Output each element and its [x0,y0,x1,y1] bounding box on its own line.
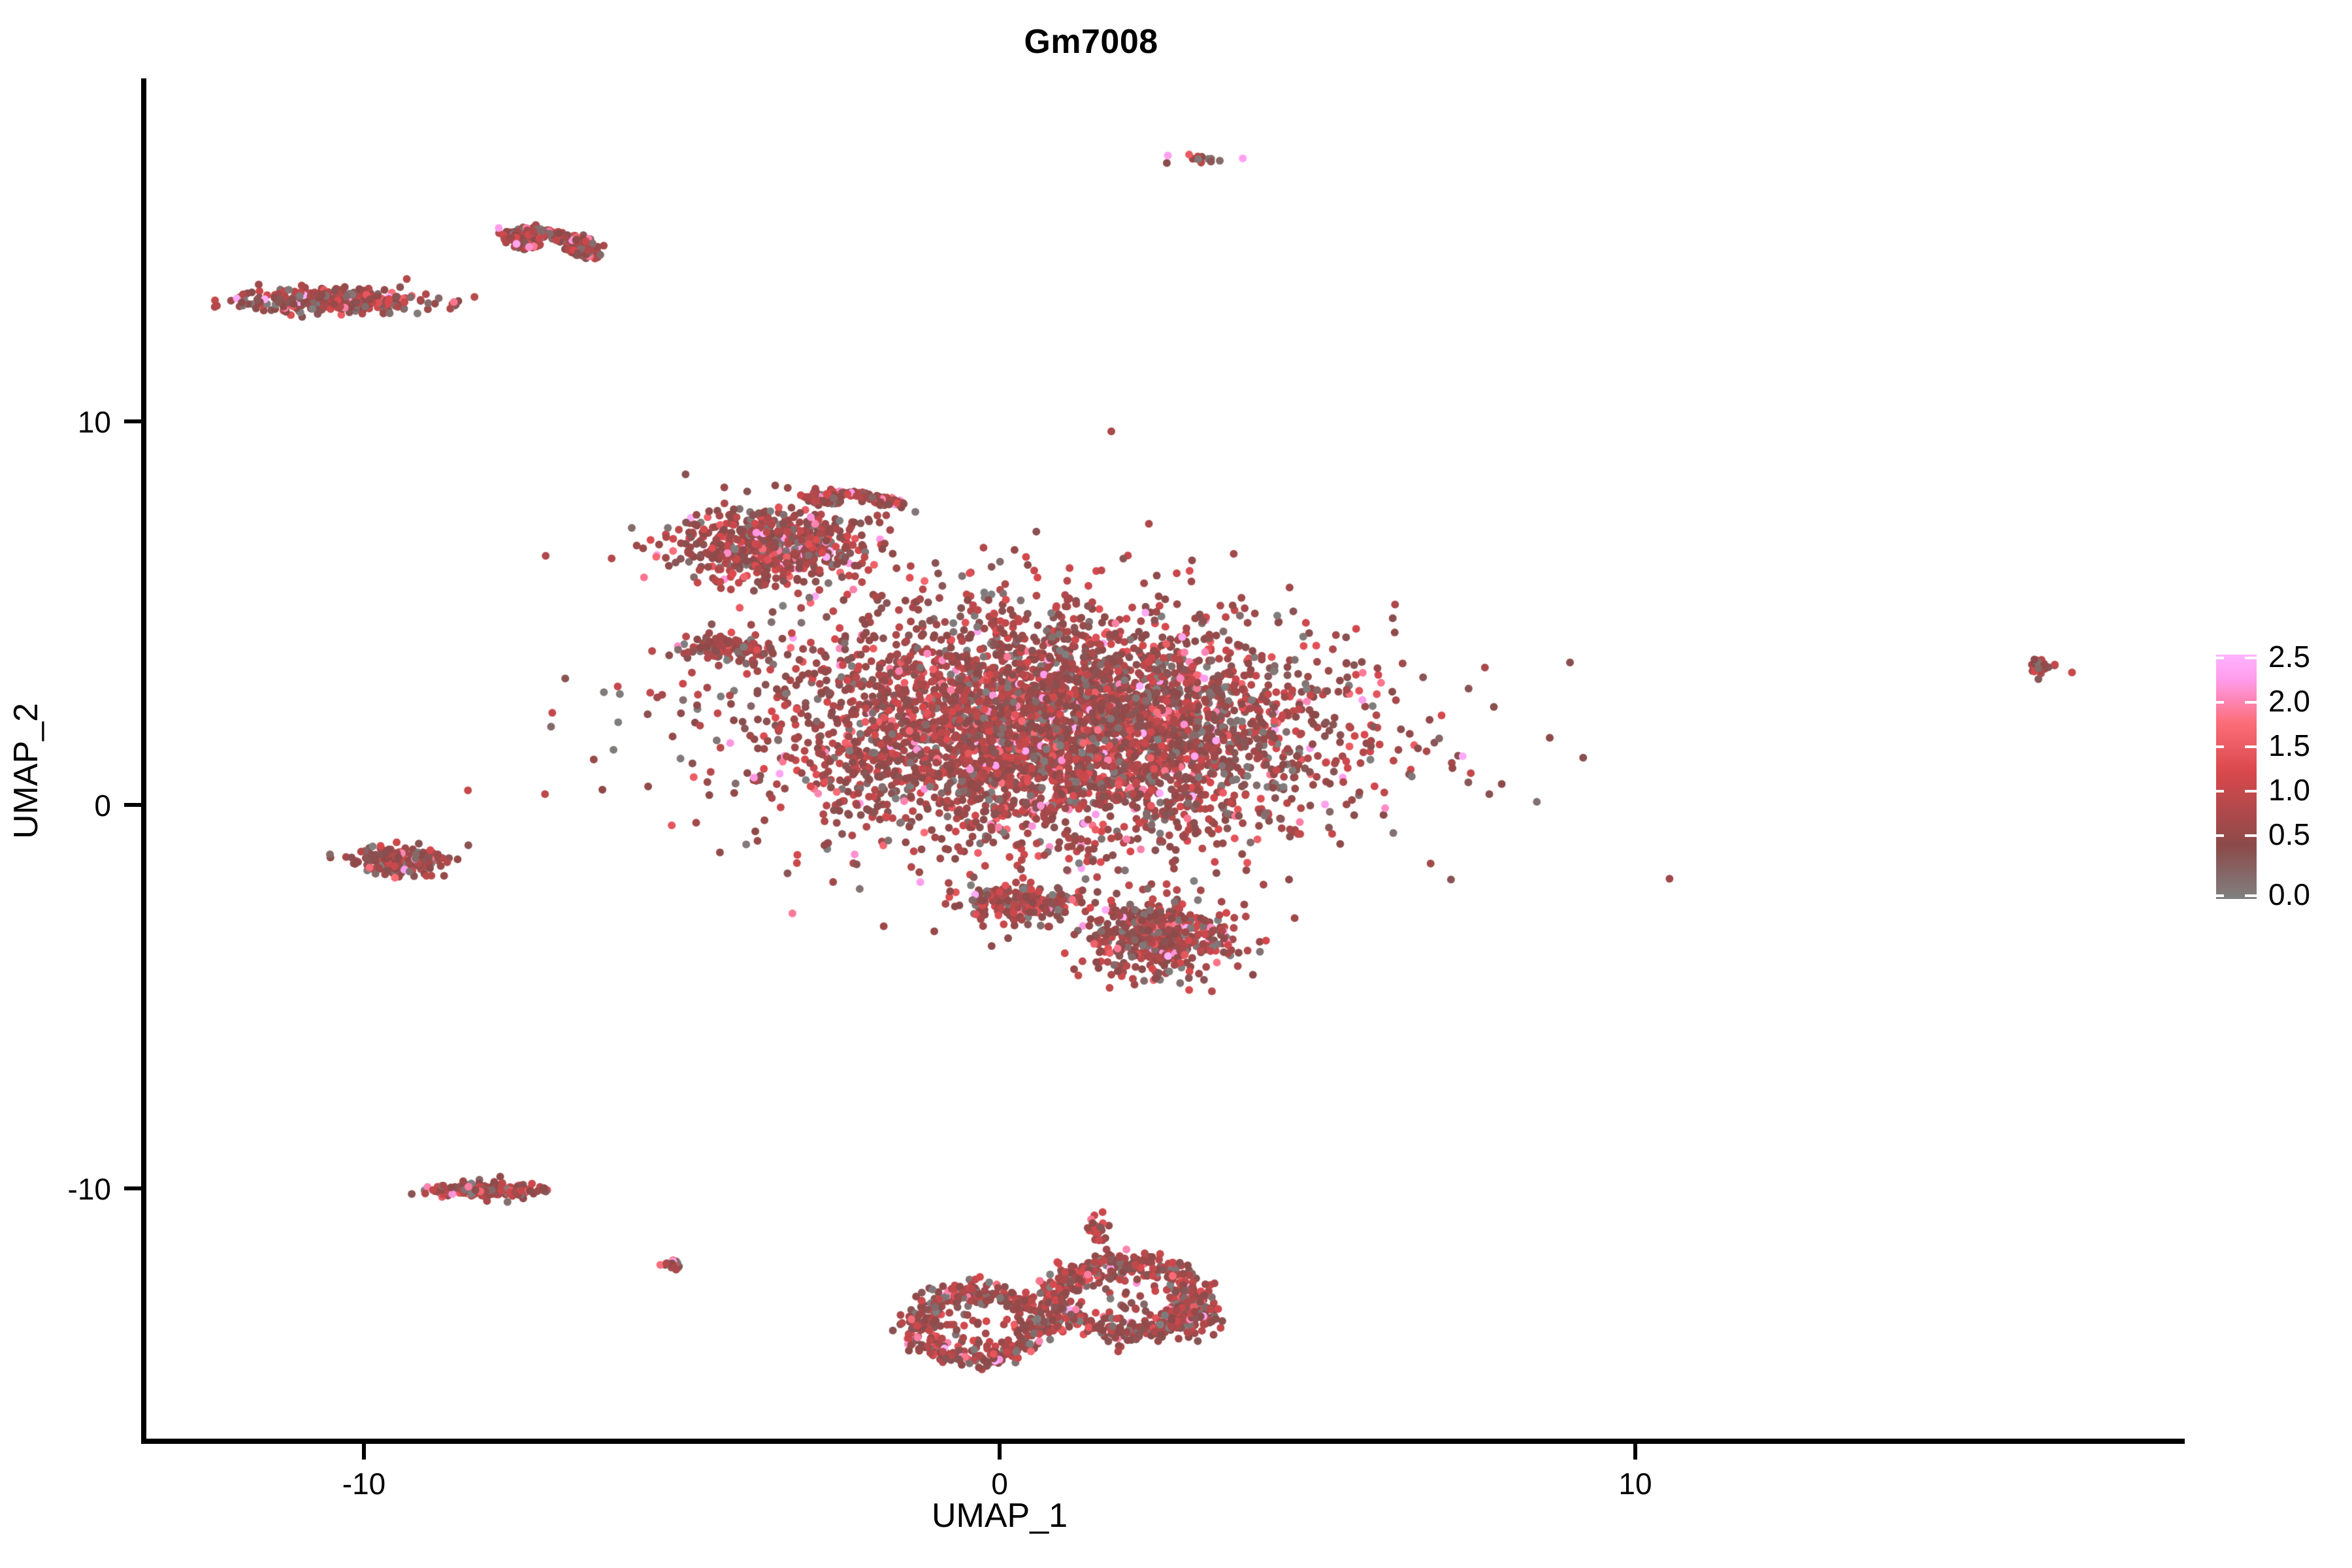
y-tick-mark-0 [124,803,141,807]
y-tick-mark-10 [124,419,141,423]
colorbar-label-2_0: 2.0 [2268,686,2310,716]
colorbar-tick-0_5 [2245,834,2257,837]
colorbar-label-0_0: 0.0 [2268,879,2310,909]
x-axis-title: UMAP_1 [771,1496,1228,1535]
x-tick-mark-0 [998,1443,1002,1460]
colorbar-tick-2_0 [2245,701,2257,704]
colorbar-label-2_5: 2.5 [2268,642,2310,672]
y-axis-title: UMAP_2 [7,510,46,1032]
colorbar-gradient [2216,655,2257,899]
colorbar-label-0_5: 0.5 [2268,819,2310,849]
colorbar-tick-left-1_5 [2216,745,2224,748]
colorbar-tick-left-0_5 [2216,834,2224,837]
y-tick-mark-neg10 [124,1186,141,1190]
colorbar-tick-1_0 [2245,790,2257,792]
colorbar-tick-2_5 [2245,657,2257,659]
colorbar-tick-0_0 [2245,894,2257,897]
y-axis-line [141,78,146,1444]
x-tick-mark-neg10 [362,1443,366,1460]
x-axis-line [141,1439,2185,1444]
figure-root: Gm7008 10 0 -10 -10 0 10 UMAP_1 UMAP_2 2… [0,0,2352,1568]
colorbar-tick-left-2_5 [2216,657,2224,659]
x-tick-mark-10 [1633,1443,1637,1460]
colorbar-tick-left-1_0 [2216,790,2224,792]
scatter-plot-canvas [144,78,2182,1441]
x-tick-label-neg10: -10 [299,1466,429,1501]
y-tick-label-neg10: -10 [0,1171,111,1207]
colorbar-tick-left-0_0 [2216,894,2224,897]
colorbar-tick-1_5 [2245,745,2257,748]
y-tick-label-10: 10 [0,404,111,440]
colorbar-legend: 2.5 2.0 1.5 1.0 0.5 0.0 [2216,655,2347,903]
colorbar-label-1_5: 1.5 [2268,730,2310,760]
x-tick-label-10: 10 [1570,1466,1701,1501]
plot-panel [144,78,2182,1441]
colorbar-tick-left-2_0 [2216,701,2224,704]
colorbar-label-1_0: 1.0 [2268,775,2310,805]
page-title: Gm7008 [0,22,2182,61]
